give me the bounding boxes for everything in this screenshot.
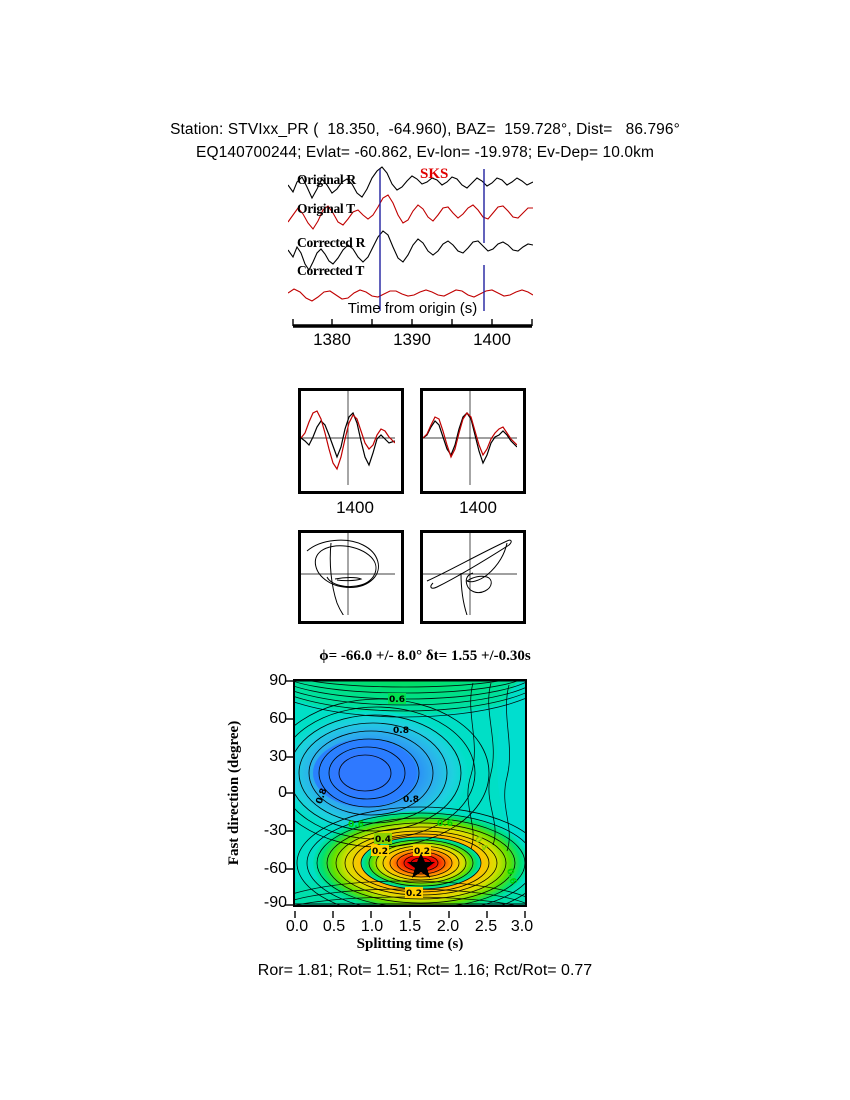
y-axis-label-wrap: Fast direction (degree): [226, 679, 246, 907]
header-station-line: Station: STVIxx_PR ( 18.350, -64.960), B…: [0, 118, 850, 141]
contour-label-0.2-right: 0.2: [413, 845, 431, 857]
y-tickmark-lines: [285, 679, 293, 907]
svg-text:0.2: 0.2: [372, 847, 388, 857]
y-tick--30: -30: [264, 822, 287, 840]
trace-label-original-t: Original T: [297, 201, 355, 217]
x-tickmark-lines: [293, 911, 527, 918]
x-axis-label: Splitting time (s): [293, 936, 527, 953]
error-surface-contour-plot: 0.6 0.8 0.8 0.8 0.6 0.6 0.4 0.2 0.2 0.4: [293, 679, 527, 907]
y-axis-ticklabels: 90 60 30 0 -30 -60 -90: [247, 679, 287, 907]
contour-label-0.6-lowright: 0.6: [437, 819, 453, 829]
x-tick-0.5: 0.5: [323, 918, 345, 936]
contour-label-0.6-lowleft: 0.6: [348, 820, 364, 830]
x-tick-0.0: 0.0: [286, 918, 308, 936]
particle-motion-hodogram-corrected: [423, 533, 517, 615]
fast-slow-waveform-box-corrected: [420, 388, 526, 494]
svg-text:0.6: 0.6: [389, 695, 405, 705]
particle-motion-box-corrected: [420, 530, 526, 624]
waveform-box-2-time-label: 1400: [459, 498, 497, 518]
quality-metrics-line: Ror= 1.81; Rot= 1.51; Rct= 1.16; Rct/Rot…: [0, 962, 850, 980]
contour-label-0.8-mid: 0.8: [403, 795, 419, 805]
trace-label-corrected-t: Corrected T: [297, 263, 364, 279]
fast-slow-traces-uncorrected: [301, 391, 395, 485]
x-axis-ticklabels: 0.0 0.5 1.0 1.5 2.0 2.5 3.0: [293, 911, 527, 933]
fast-slow-traces-corrected: [423, 391, 517, 485]
x-tick-1.5: 1.5: [399, 918, 421, 936]
contour-label-0.8-upper: 0.8: [393, 726, 409, 736]
contour-label-0.2-left: 0.2: [371, 845, 389, 857]
trace-label-corrected-r: Corrected R: [297, 235, 365, 251]
waveform-box-1-time-label: 1400: [336, 498, 374, 518]
y-axis-tickmarks: [285, 679, 293, 907]
time-axis-title: Time from origin (s): [285, 300, 540, 317]
x-tick-2.0: 2.0: [437, 918, 459, 936]
splitting-result-line: ϕ= -66.0 +/- 8.0° δt= 1.55 +/-0.30s: [0, 648, 850, 665]
particle-motion-box-uncorrected: [298, 530, 404, 624]
contour-surface: 0.6 0.8 0.8 0.8 0.6 0.6 0.4 0.2 0.2 0.4: [295, 681, 525, 905]
svg-text:0.4: 0.4: [375, 835, 391, 845]
time-tick-1380: 1380: [313, 330, 351, 350]
particle-motion-hodogram-uncorrected: [301, 533, 395, 615]
trace-label-original-r: Original R: [297, 172, 356, 188]
time-tick-1400: 1400: [473, 330, 511, 350]
figure-header: Station: STVIxx_PR ( 18.350, -64.960), B…: [0, 118, 850, 164]
time-axis: Time from origin (s): [285, 300, 540, 333]
contour-label-0.6-top: 0.6: [388, 693, 406, 705]
sks-phase-label: SKS: [420, 166, 448, 183]
svg-text:0.2: 0.2: [406, 889, 422, 899]
y-tick--60: -60: [264, 860, 287, 878]
contour-label-0.4-left: 0.4: [374, 833, 392, 845]
time-tick-1390: 1390: [393, 330, 431, 350]
fast-slow-waveform-box-uncorrected: [298, 388, 404, 494]
y-tick--90: -90: [264, 894, 287, 912]
contour-label-0.2-bottom: 0.2: [405, 887, 423, 899]
x-tick-3.0: 3.0: [511, 918, 533, 936]
x-tick-1.0: 1.0: [361, 918, 383, 936]
header-event-line: EQ140700244; Evlat= -60.862, Ev-lon= -19…: [0, 141, 850, 164]
x-tick-2.5: 2.5: [475, 918, 497, 936]
y-axis-label: Fast direction (degree): [226, 679, 246, 907]
